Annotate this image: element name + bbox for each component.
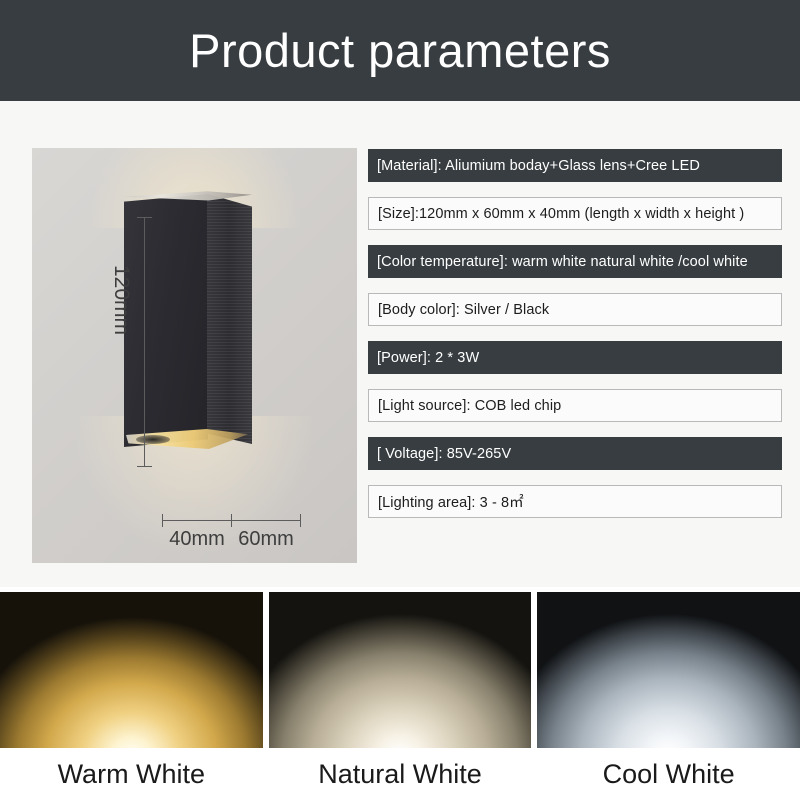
warm-white-beam [0, 592, 263, 748]
color-temperature-comparison: Warm White Natural White Cool White [0, 587, 800, 800]
dimension-height-line [144, 217, 145, 466]
beam-panel-cool-white [537, 592, 800, 748]
spec-row-size: [Size]:120mm x 60mm x 40mm (length x wid… [368, 197, 782, 230]
beam-panel-warm-white [0, 592, 263, 748]
color-temperature-panels [0, 592, 800, 748]
spec-row-lighting-area: [Lighting area]: 3 - 8㎡ [368, 485, 782, 518]
dimension-height-label: 120mm [109, 245, 133, 355]
spec-row-voltage: [ Voltage]: 85V-265V [368, 437, 782, 470]
lamp-side-face [207, 186, 252, 444]
dimension-tick-left [162, 514, 163, 527]
beam-panel-natural-white [269, 592, 532, 748]
lamp-front-face [124, 194, 208, 447]
product-parameters-page: Product parameters 120mm 40m [0, 0, 800, 800]
page-title: Product parameters [189, 27, 611, 74]
dimension-width-label: 60mm [231, 528, 301, 551]
spec-list: [Material]: Aliumium boday+Glass lens+Cr… [368, 149, 782, 533]
spec-row-body-color: [Body color]: Silver / Black [368, 293, 782, 326]
product-photo: 120mm 40mm 60mm [32, 148, 357, 563]
dimension-depth-label: 40mm [162, 528, 232, 551]
header-banner: Product parameters [0, 0, 800, 101]
label-warm-white: Warm White [0, 748, 263, 800]
natural-white-beam [269, 592, 532, 748]
color-temperature-labels: Warm White Natural White Cool White [0, 748, 800, 800]
label-natural-white: Natural White [269, 748, 532, 800]
dimension-tick-right [300, 514, 301, 527]
spec-row-light-source: [Light source]: COB led chip [368, 389, 782, 422]
spec-row-power: [Power]: 2 * 3W [368, 341, 782, 374]
spec-row-color-temperature: [Color temperature]: warm white natural … [368, 245, 782, 278]
dimension-height-cap-bottom [137, 466, 152, 467]
specs-section: 120mm 40mm 60mm [Material]: Aliumium bod… [0, 101, 800, 587]
spec-row-material: [Material]: Aliumium boday+Glass lens+Cr… [368, 149, 782, 182]
cool-white-beam [537, 592, 800, 748]
lamp-led-glint [136, 435, 170, 444]
dimension-tick-middle [231, 514, 232, 527]
label-cool-white: Cool White [537, 748, 800, 800]
